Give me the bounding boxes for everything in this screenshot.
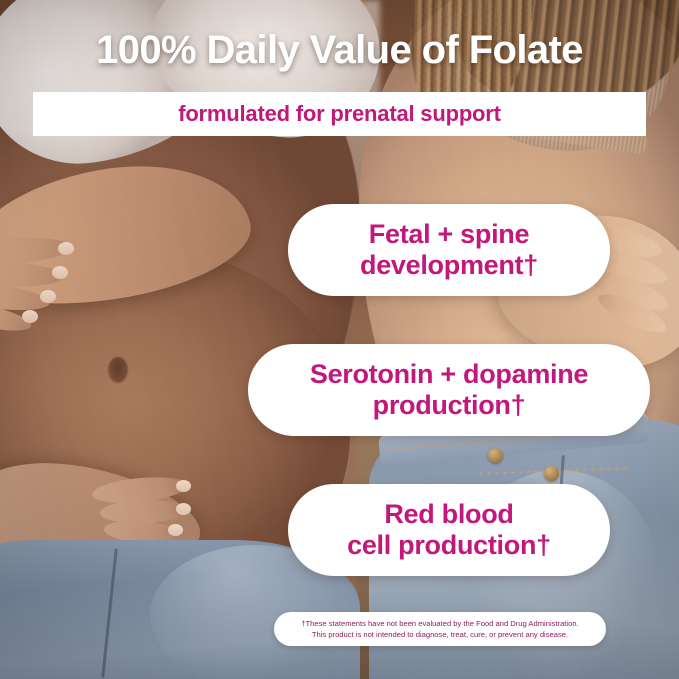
photo-fingernail [168, 524, 183, 536]
benefit-line-1: Serotonin + dopamine [310, 359, 588, 389]
photo-fingernail [176, 480, 191, 492]
prenatal-folate-banner: 100% Daily Value of Folate formulated fo… [0, 0, 679, 679]
photo-fingernail [176, 503, 191, 515]
disclaimer-line-2: This product is not intended to diagnose… [312, 629, 568, 640]
disclaimer-line-1: †These statements have not been evaluate… [301, 618, 578, 629]
benefit-pill-text: Fetal + spine development† [342, 219, 556, 281]
benefit-line-2: cell production† [347, 530, 551, 560]
benefit-pill-serotonin-dopamine-production: Serotonin + dopamine production† [248, 344, 650, 436]
benefit-line-2: development† [360, 250, 538, 280]
benefit-line-2: production† [373, 390, 526, 420]
photo-left-subject-navel [108, 357, 128, 383]
subheadline-bar: formulated for prenatal support [33, 92, 646, 136]
benefit-pill-red-blood-cell-production: Red blood cell production† [288, 484, 610, 576]
benefit-line-1: Red blood [384, 499, 513, 529]
subheadline-text: formulated for prenatal support [178, 101, 501, 127]
photo-fingernail [58, 242, 74, 255]
benefit-pill-text: Red blood cell production† [329, 499, 569, 561]
benefit-pill-text: Serotonin + dopamine production† [292, 359, 606, 421]
photo-jeans-button [544, 466, 559, 481]
benefit-pill-fetal-spine-development: Fetal + spine development† [288, 204, 610, 296]
headline: 100% Daily Value of Folate [0, 28, 679, 73]
fda-disclaimer: †These statements have not been evaluate… [274, 612, 606, 646]
benefit-line-1: Fetal + spine [369, 219, 529, 249]
photo-fingernail [22, 310, 38, 323]
photo-jeans-button [488, 448, 503, 463]
photo-fingernail [40, 290, 56, 303]
photo-fingernail [52, 266, 68, 279]
